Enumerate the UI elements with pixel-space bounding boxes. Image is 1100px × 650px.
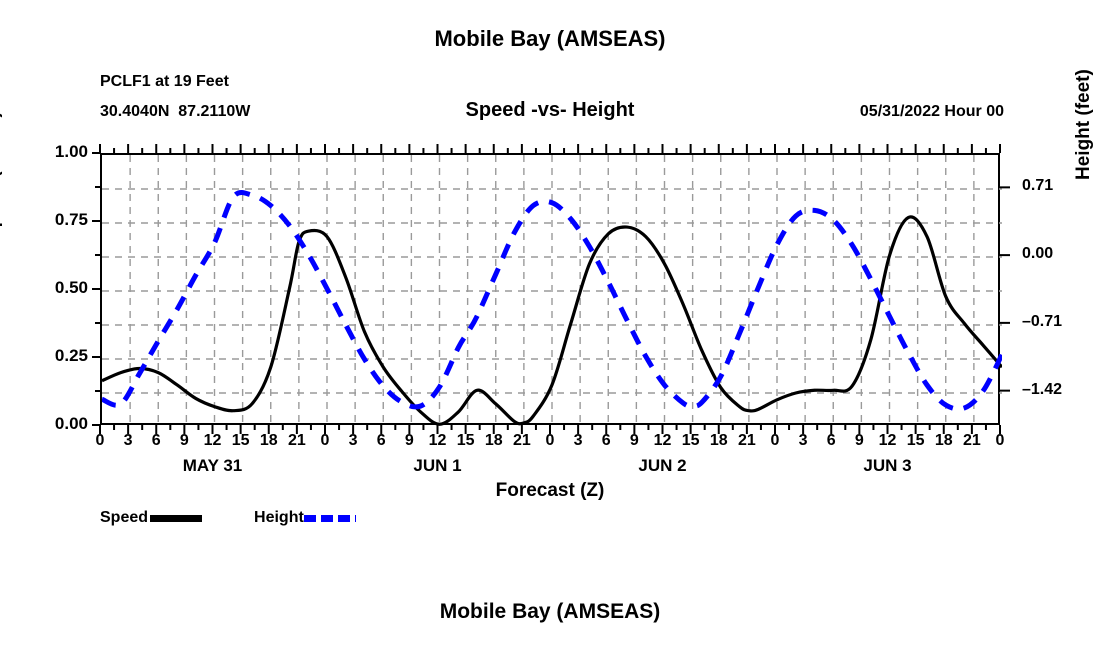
x-axis-tick-label: 3 (338, 432, 368, 450)
x-axis-tick-label: 9 (169, 432, 199, 450)
x-axis-tick-label: 15 (901, 432, 931, 450)
x-axis-tick-label: 3 (788, 432, 818, 450)
x-axis-tick-label: 0 (985, 432, 1015, 450)
x-axis-tick-label: 3 (113, 432, 143, 450)
x-axis-tick-label: 18 (704, 432, 734, 450)
x-axis-tick-label: 6 (591, 432, 621, 450)
x-axis-tick-label: 0 (535, 432, 565, 450)
page-title: Mobile Bay (AMSEAS) (0, 26, 1100, 52)
x-axis-tick-label: 18 (929, 432, 959, 450)
x-axis-day-label: MAY 31 (138, 456, 288, 476)
x-axis-tick-label: 3 (563, 432, 593, 450)
x-axis-tick-label: 6 (816, 432, 846, 450)
x-axis-tick-label: 18 (254, 432, 284, 450)
y-axis-right-tick-label: –1.42 (1022, 381, 1092, 399)
x-axis-day-label: JUN 1 (363, 456, 513, 476)
x-axis-tick-label: 9 (844, 432, 874, 450)
chart-page: Mobile Bay (AMSEAS) PCLF1 at 19 Feet 30.… (0, 0, 1100, 650)
x-axis-tick-label: 12 (873, 432, 903, 450)
x-axis-title: Forecast (Z) (0, 480, 1100, 502)
x-axis-tick-label: 9 (394, 432, 424, 450)
x-axis-tick-label: 21 (732, 432, 762, 450)
x-axis-tick-label: 0 (760, 432, 790, 450)
x-axis-tick-label: 21 (282, 432, 312, 450)
y-axis-right-tick-label: –0.71 (1022, 313, 1092, 331)
legend-item-height: Height (254, 509, 356, 527)
y-axis-left-tick-label: 0.00 (28, 414, 88, 434)
x-axis-tick-label: 0 (85, 432, 115, 450)
x-axis-tick-label: 12 (423, 432, 453, 450)
model-run-time: 05/31/2022 Hour 00 (860, 103, 1004, 121)
station-name: PCLF1 at 19 Feet (100, 73, 229, 91)
legend-swatch-speed-line (150, 515, 202, 522)
legend-label-height: Height (254, 509, 304, 527)
plot-area (100, 153, 1000, 425)
y-axis-left-tick-label: 0.25 (28, 346, 88, 366)
x-axis-tick-label: 9 (619, 432, 649, 450)
x-axis-tick-label: 0 (310, 432, 340, 450)
y-axis-right-tick-label: 0.00 (1022, 245, 1092, 263)
x-axis-day-label: JUN 2 (588, 456, 738, 476)
y-axis-left-tick-label: 1.00 (28, 142, 88, 162)
x-axis-tick-label: 15 (451, 432, 481, 450)
x-axis-tick-label: 21 (957, 432, 987, 450)
x-axis-tick-label: 12 (648, 432, 678, 450)
y-axis-left-tick-label: 0.75 (28, 210, 88, 230)
legend-label-speed: Speed (100, 509, 148, 527)
y-axis-left-tick-label: 0.50 (28, 278, 88, 298)
x-axis-tick-label: 15 (676, 432, 706, 450)
x-axis-tick-label: 18 (479, 432, 509, 450)
x-axis-tick-label: 6 (141, 432, 171, 450)
legend-swatch-height-line (304, 515, 356, 522)
x-axis-tick-label: 21 (507, 432, 537, 450)
x-axis-tick-label: 15 (226, 432, 256, 450)
y-axis-right-title: Height (feet) (1073, 69, 1095, 180)
bottom-title: Mobile Bay (AMSEAS) (0, 600, 1100, 624)
y-axis-left-title: Speed (Knots) (0, 111, 4, 240)
plot-curves (102, 155, 1002, 427)
y-axis-right-tick-label: 0.71 (1022, 177, 1092, 195)
x-axis-tick-label: 12 (198, 432, 228, 450)
x-axis-day-label: JUN 3 (813, 456, 963, 476)
chart-legend: Speed Height (100, 509, 356, 527)
legend-item-speed: Speed (100, 509, 202, 527)
x-axis-tick-label: 6 (366, 432, 396, 450)
